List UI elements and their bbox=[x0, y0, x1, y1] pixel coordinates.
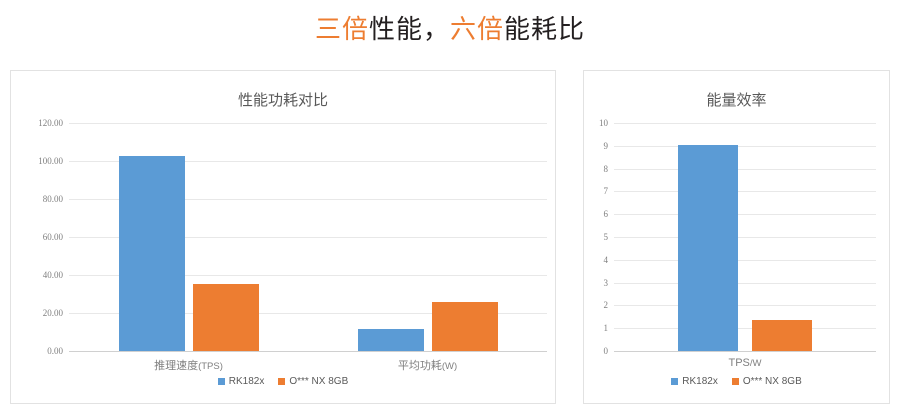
legend-item[interactable]: O*** NX 8GB bbox=[732, 376, 802, 387]
page-title-segment-3: 六倍 bbox=[450, 14, 504, 44]
bar-rk182x-0[interactable] bbox=[678, 145, 738, 351]
y-axis-tick-label: 1 bbox=[604, 323, 609, 333]
y-axis-tick-label: 40.00 bbox=[43, 270, 63, 280]
y-axis-tick-label: 8 bbox=[604, 164, 609, 174]
gridline bbox=[614, 169, 876, 170]
plot-area-performance-power: 0.0020.0040.0060.0080.00100.00120.00 bbox=[69, 123, 547, 351]
chart-panel-energy-efficiency: 能量效率 012345678910 TPS/W RK182xO*** NX 8G… bbox=[583, 70, 890, 404]
gridline bbox=[614, 214, 876, 215]
legend-item[interactable]: O*** NX 8GB bbox=[278, 376, 348, 387]
legend-label: RK182x bbox=[229, 376, 265, 387]
y-axis-tick-label: 4 bbox=[604, 255, 609, 265]
gridline bbox=[69, 351, 547, 352]
gridline bbox=[69, 123, 547, 124]
y-axis-tick-label: 6 bbox=[604, 209, 609, 219]
y-axis-tick-label: 100.00 bbox=[38, 156, 63, 166]
y-axis-tick-label: 9 bbox=[604, 141, 609, 151]
gridline bbox=[614, 351, 876, 352]
page-title: 三倍性能，六倍能耗比 bbox=[0, 12, 900, 46]
page-title-segment-4: 能耗比 bbox=[504, 14, 585, 44]
legend-swatch-icon bbox=[278, 378, 285, 385]
gridline bbox=[614, 260, 876, 261]
legend-label: RK182x bbox=[682, 376, 718, 387]
gridline bbox=[614, 283, 876, 284]
y-axis-tick-label: 10 bbox=[599, 118, 608, 128]
plot-area-energy-efficiency: 012345678910 bbox=[614, 123, 876, 351]
chart-title-performance-power: 性能功耗对比 bbox=[11, 89, 555, 110]
gridline bbox=[614, 305, 876, 306]
bar-rk182x-1[interactable] bbox=[358, 329, 424, 351]
y-axis-tick-label: 20.00 bbox=[43, 308, 63, 318]
bar-rk182x-0[interactable] bbox=[119, 156, 185, 351]
legend-label: O*** NX 8GB bbox=[289, 376, 348, 387]
category-label: 推理速度(TPS) bbox=[154, 357, 223, 373]
legend-item[interactable]: RK182x bbox=[671, 376, 718, 387]
chart-panel-performance-power: 性能功耗对比 0.0020.0040.0060.0080.00100.00120… bbox=[10, 70, 556, 404]
legend-energy-efficiency: RK182xO*** NX 8GB bbox=[584, 376, 889, 387]
legend-performance-power: RK182xO*** NX 8GB bbox=[11, 376, 555, 387]
y-axis-tick-label: 0.00 bbox=[47, 346, 63, 356]
legend-item[interactable]: RK182x bbox=[218, 376, 265, 387]
y-axis-tick-label: 7 bbox=[604, 186, 609, 196]
y-axis-tick-label: 0 bbox=[604, 346, 609, 356]
category-label: 平均功耗(W) bbox=[398, 357, 457, 373]
page-title-segment-2: 性能， bbox=[369, 14, 450, 44]
bar-o-nx-8gb-0[interactable] bbox=[752, 320, 812, 351]
gridline bbox=[614, 328, 876, 329]
page-title-segment-1: 三倍 bbox=[315, 14, 369, 44]
gridline bbox=[614, 146, 876, 147]
gridline bbox=[614, 191, 876, 192]
legend-swatch-icon bbox=[732, 378, 739, 385]
y-axis-tick-label: 2 bbox=[604, 300, 609, 310]
y-axis-tick-label: 3 bbox=[604, 278, 609, 288]
chart-title-energy-efficiency: 能量效率 bbox=[584, 89, 889, 110]
legend-swatch-icon bbox=[671, 378, 678, 385]
y-axis-tick-label: 120.00 bbox=[38, 118, 63, 128]
legend-label: O*** NX 8GB bbox=[743, 376, 802, 387]
y-axis-tick-label: 5 bbox=[604, 232, 609, 242]
gridline bbox=[614, 123, 876, 124]
y-axis-tick-label: 60.00 bbox=[43, 232, 63, 242]
category-label: TPS/W bbox=[728, 357, 761, 369]
legend-swatch-icon bbox=[218, 378, 225, 385]
y-axis-tick-label: 80.00 bbox=[43, 194, 63, 204]
gridline bbox=[614, 237, 876, 238]
bar-o-nx-8gb-1[interactable] bbox=[432, 302, 498, 351]
bar-o-nx-8gb-0[interactable] bbox=[193, 284, 259, 351]
